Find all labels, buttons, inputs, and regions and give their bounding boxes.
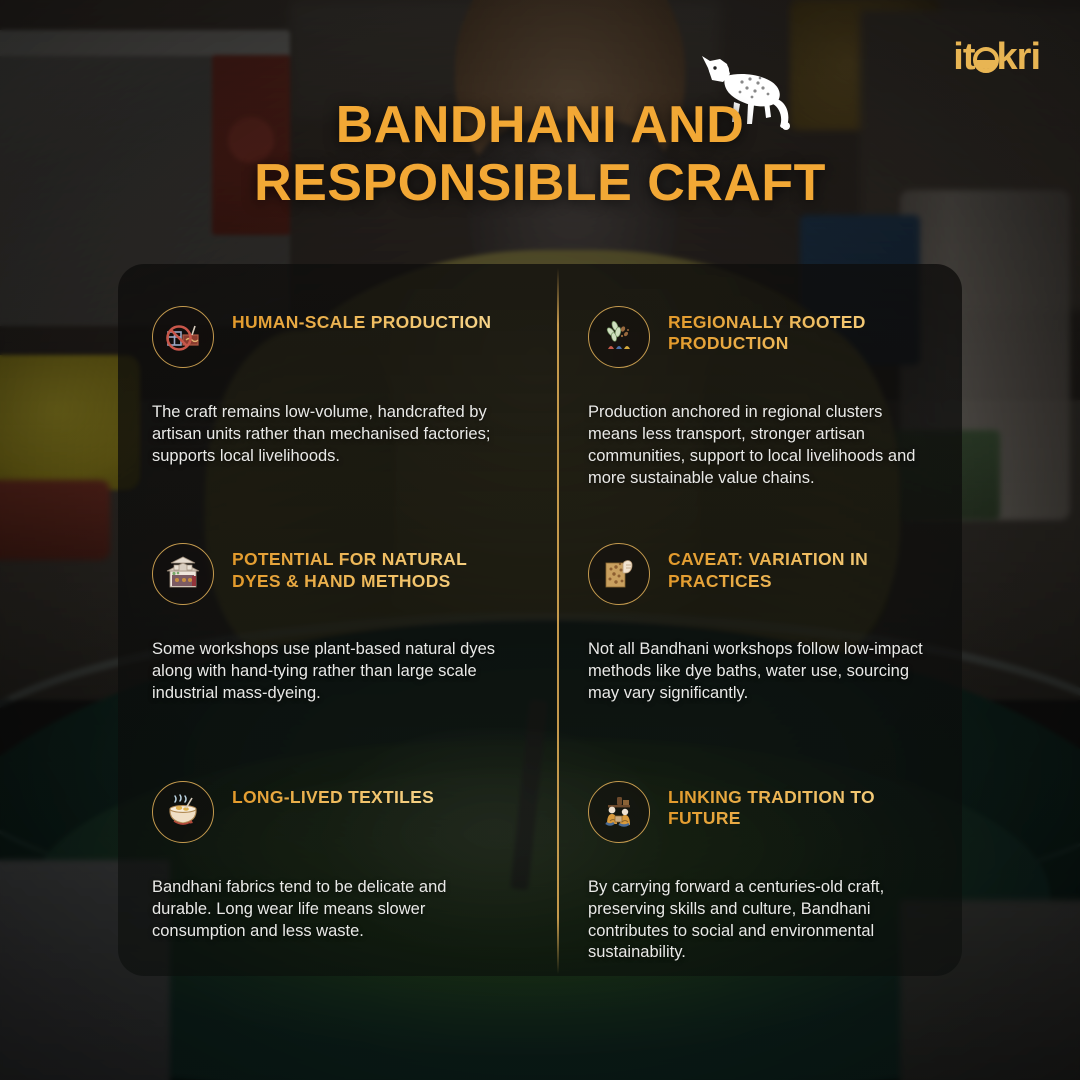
card-potential-natural-dyes: POTENTIAL FOR NATURAL DYES & HAND METHOD… (118, 501, 540, 738)
logo-o-ring-icon (973, 47, 999, 73)
hand-holding-patterned-fabric-icon (588, 543, 650, 605)
card-body: Production anchored in regional clusters… (588, 402, 928, 490)
card-title: LINKING TRADITION TO FUTURE (668, 781, 928, 830)
card-body: Bandhani fabrics tend to be delicate and… (152, 877, 506, 943)
card-header: REGIONALLY ROOTED PRODUCTION (588, 306, 928, 368)
card-long-lived-textiles: LONG-LIVED TEXTILES Bandhani fabrics ten… (118, 739, 540, 976)
title-line-2: RESPONSIBLE CRAFT (120, 154, 960, 212)
logo-text-before: it (953, 36, 974, 78)
card-title: REGIONALLY ROOTED PRODUCTION (668, 306, 928, 355)
artisan-workshop-building-icon (152, 543, 214, 605)
card-title: HUMAN-SCALE PRODUCTION (232, 306, 491, 333)
title-line-1: BANDHANI AND (120, 96, 960, 154)
card-header: LINKING TRADITION TO FUTURE (588, 781, 928, 843)
card-header: LONG-LIVED TEXTILES (152, 781, 506, 843)
card-body: By carrying forward a centuries-old craf… (588, 877, 928, 965)
infographic-poster: itkri BANDHANI AND RESPONSIBLE CRAFT (0, 0, 1080, 1080)
card-title: CAVEAT: VARIATION IN PRACTICES (668, 543, 928, 592)
logo-text-after: kri (997, 36, 1040, 78)
card-title: POTENTIAL FOR NATURAL DYES & HAND METHOD… (232, 543, 506, 592)
no-factory-icon (152, 306, 214, 368)
card-body: Not all Bandhani workshops follow low-im… (588, 639, 928, 705)
leaves-and-dye-powders-icon (588, 306, 650, 368)
card-title: LONG-LIVED TEXTILES (232, 781, 434, 808)
brand-logo-itokri[interactable]: itkri (953, 38, 1040, 76)
card-header: HUMAN-SCALE PRODUCTION (152, 306, 506, 368)
card-body: The craft remains low-volume, handcrafte… (152, 402, 506, 468)
two-artisans-icon (588, 781, 650, 843)
cards-grid: HUMAN-SCALE PRODUCTION The craft remains… (118, 264, 962, 976)
card-human-scale-production: HUMAN-SCALE PRODUCTION The craft remains… (118, 264, 540, 501)
card-regionally-rooted-production: REGIONALLY ROOTED PRODUCTION Production … (540, 264, 962, 501)
card-body: Some workshops use plant-based natural d… (152, 639, 506, 705)
card-header: POTENTIAL FOR NATURAL DYES & HAND METHOD… (152, 543, 506, 605)
card-linking-tradition-future: LINKING TRADITION TO FUTURE By carrying … (540, 739, 962, 976)
page-title: BANDHANI AND RESPONSIBLE CRAFT (0, 96, 1080, 212)
card-caveat-variation: CAVEAT: VARIATION IN PRACTICES Not all B… (540, 501, 962, 738)
card-header: CAVEAT: VARIATION IN PRACTICES (588, 543, 928, 605)
steaming-dye-pot-icon (152, 781, 214, 843)
